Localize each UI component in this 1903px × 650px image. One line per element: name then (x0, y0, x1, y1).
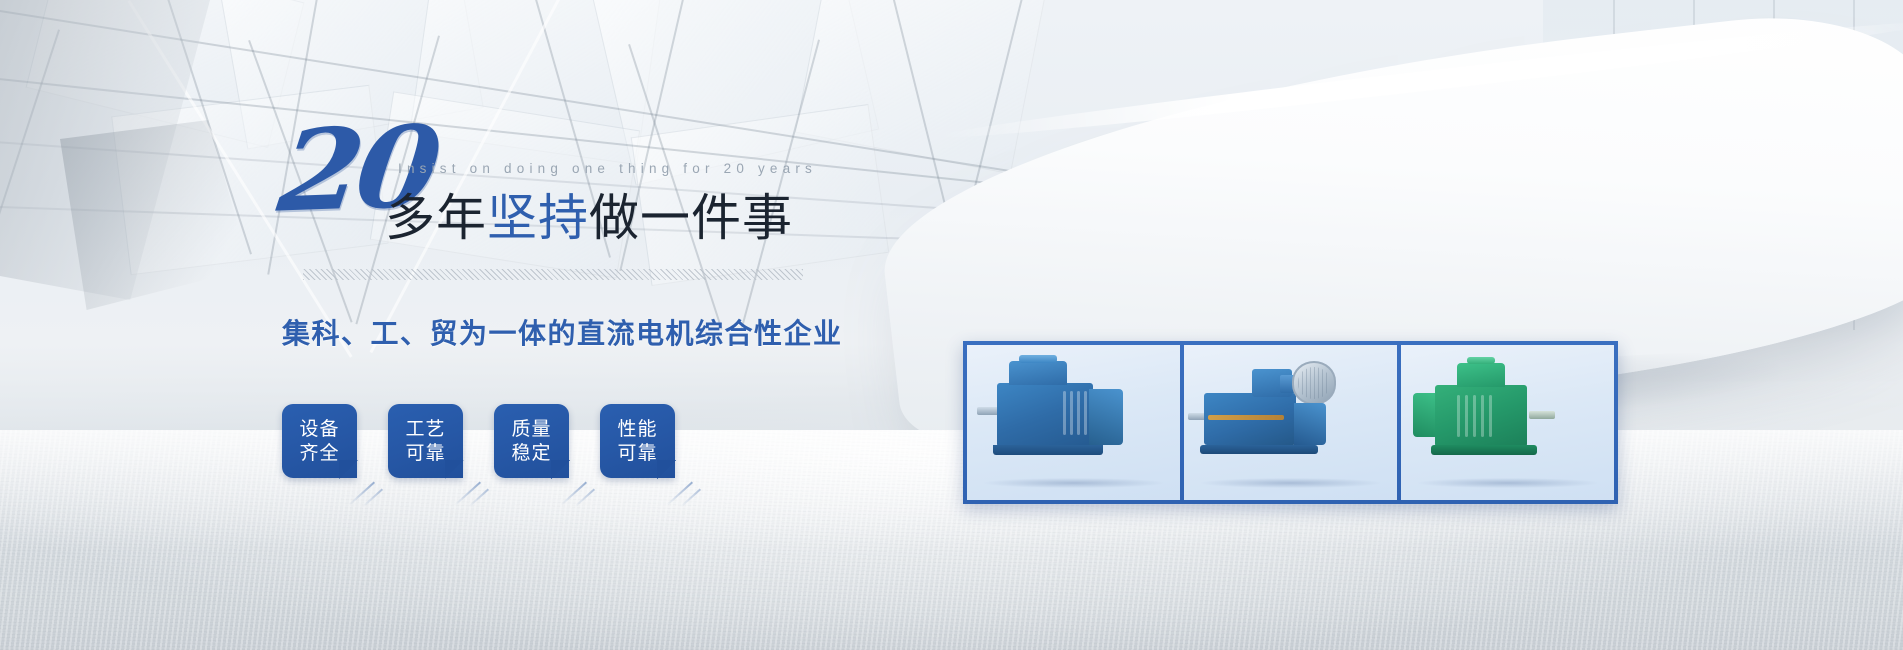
motor-end-bell-icon (1089, 389, 1123, 445)
badge-corner-notch (339, 460, 358, 479)
motor-base-icon (1200, 445, 1318, 454)
badge-streak (454, 482, 481, 506)
badge-corner-notch (445, 460, 464, 479)
motor-terminal-box-icon (1457, 363, 1505, 387)
motor-base-icon (993, 445, 1103, 455)
feature-badge-equipment[interactable]: 设备 齐全 (282, 404, 357, 478)
headline-pre: 多年 (385, 189, 487, 247)
badge-streak (666, 482, 693, 506)
badge-corner-notch (657, 460, 676, 479)
badge-corner-notch (551, 460, 570, 479)
headline-highlight: 坚持 (487, 189, 589, 247)
feature-badge-performance[interactable]: 性能 可靠 (600, 404, 675, 478)
badge-line-1: 质量 (511, 417, 551, 441)
product-card-green-gear-motor[interactable] (1401, 345, 1614, 500)
product-shadow (1201, 478, 1380, 488)
motor-cap-icon (1467, 357, 1495, 364)
banner-content: 20 Insist on doing one thing for 20 year… (0, 0, 1903, 650)
badge-line-2: 可靠 (617, 441, 657, 465)
product-card-dc-motor[interactable] (967, 345, 1180, 500)
motor-cap-icon (1019, 355, 1057, 363)
feature-badge-process[interactable]: 工艺 可靠 (388, 404, 463, 478)
motor-shaft-icon (1529, 411, 1555, 419)
motor-base-icon (1431, 445, 1537, 455)
product-card-dc-motor-blower[interactable] (1184, 345, 1397, 500)
hero-banner: 20 Insist on doing one thing for 20 year… (0, 0, 1903, 650)
badge-line-1: 性能 (617, 417, 657, 441)
feature-badge-quality[interactable]: 质量 稳定 (494, 404, 569, 478)
blower-drum-icon (1292, 361, 1336, 405)
headline-block: 20 Insist on doing one thing for 20 year… (285, 126, 985, 236)
badge-streak (348, 482, 375, 506)
product-shadow (1418, 478, 1597, 488)
motor-label-stripe (1208, 415, 1284, 420)
subtitle: 集科、工、贸为一体的直流电机综合性企业 (282, 312, 843, 352)
motor-housing-icon (997, 383, 1093, 447)
motor-end-bell-icon (1294, 403, 1326, 445)
badge-line-2: 齐全 (299, 441, 339, 465)
motor-terminal-box-icon (1009, 361, 1067, 385)
badge-streak (560, 482, 587, 506)
headline-chinese: 多年坚持做一件事 (385, 178, 793, 250)
product-image-strip (963, 341, 1618, 504)
motor-housing-icon (1435, 385, 1527, 447)
badge-line-2: 稳定 (511, 441, 551, 465)
badge-line-1: 设备 (299, 417, 339, 441)
feature-badge-list: 设备 齐全 工艺 可靠 质量 稳定 性能 (282, 404, 675, 478)
badge-line-1: 工艺 (405, 417, 445, 441)
headline-post: 做一件事 (589, 189, 793, 247)
hatch-divider (303, 269, 803, 280)
english-tagline: Insist on doing one thing for 20 years (398, 161, 817, 176)
badge-line-2: 可靠 (405, 441, 445, 465)
product-shadow (984, 478, 1163, 488)
